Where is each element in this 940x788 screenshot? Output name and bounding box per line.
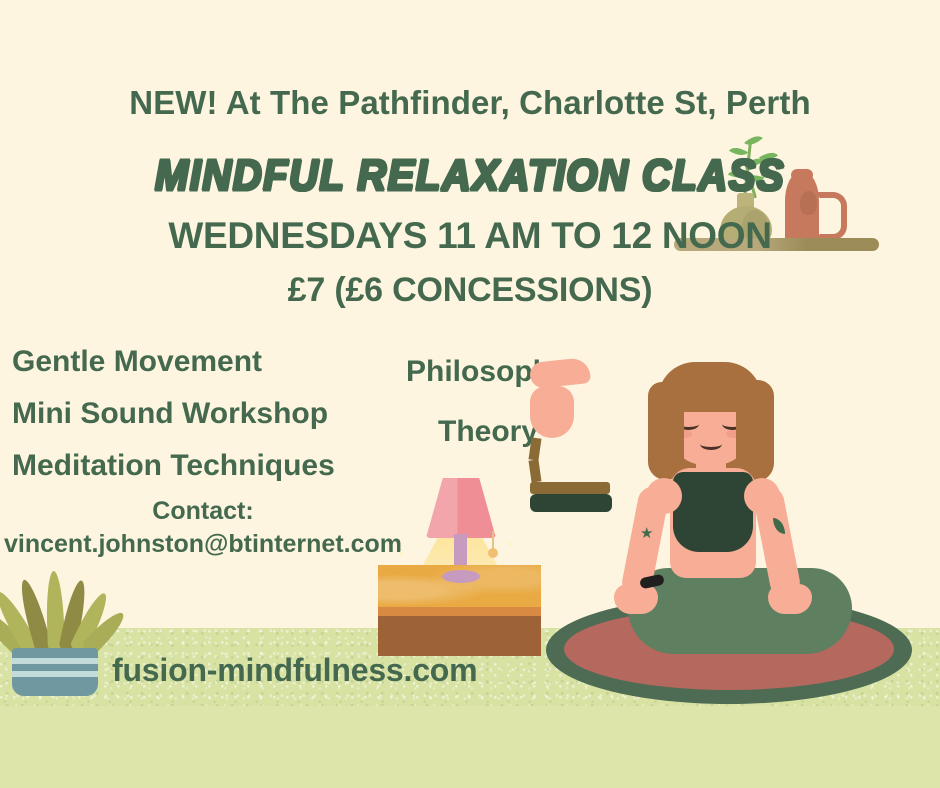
left-foot bbox=[530, 386, 574, 438]
floor-band-front bbox=[0, 706, 940, 788]
star-tattoo-icon: ★ bbox=[640, 526, 653, 541]
page-title: NEW! At The Pathfinder, Charlotte St, Pe… bbox=[0, 84, 940, 122]
list-item: Gentle Movement bbox=[12, 336, 335, 388]
list-item: Mini Sound Workshop bbox=[12, 388, 335, 440]
pot-stripe bbox=[12, 671, 98, 677]
poster-canvas: NEW! At The Pathfinder, Charlotte St, Pe… bbox=[0, 0, 940, 788]
side-table-body bbox=[378, 616, 541, 656]
bra-band bbox=[530, 482, 610, 494]
snake-plant-illustration bbox=[0, 572, 120, 697]
sports-bra bbox=[673, 472, 753, 552]
waistband bbox=[530, 494, 612, 512]
lamp-and-table-illustration: ✦ ✦ ✦ ✦ bbox=[378, 468, 543, 658]
bra-strap-left bbox=[529, 437, 542, 460]
bra-strap-right bbox=[529, 459, 542, 482]
sparkle-icon: ✦ bbox=[506, 540, 515, 551]
sprig-leaf-icon bbox=[744, 131, 763, 149]
sparkle-icon: ✦ bbox=[396, 550, 405, 561]
smile bbox=[700, 438, 722, 450]
left-hand bbox=[614, 584, 658, 614]
lamp-shade-icon bbox=[426, 478, 496, 538]
right-foot bbox=[529, 357, 591, 389]
pot-stripe bbox=[12, 658, 98, 664]
lamp-base bbox=[442, 570, 480, 583]
feature-list: Gentle Movement Mini Sound Workshop Medi… bbox=[12, 336, 335, 492]
schedule-text: WEDNESDAYS 11 AM TO 12 NOON bbox=[0, 215, 940, 257]
side-table-band bbox=[378, 607, 541, 616]
list-item: Meditation Techniques bbox=[12, 440, 335, 492]
right-hand bbox=[768, 584, 812, 614]
contact-email[interactable]: vincent.johnston@btinternet.com bbox=[0, 530, 406, 559]
hair-left bbox=[648, 382, 684, 480]
contact-label: Contact: bbox=[0, 497, 406, 526]
price-text: £7 (£6 CONCESSIONS) bbox=[0, 271, 940, 310]
hair-right bbox=[736, 380, 774, 482]
lamp-pull-cord[interactable] bbox=[492, 531, 494, 549]
class-title: MINDFUL RELAXATION CLASS bbox=[0, 152, 940, 201]
website-url[interactable]: fusion-mindfulness.com bbox=[112, 652, 477, 689]
meditating-woman-illustration: ★ bbox=[530, 360, 940, 708]
